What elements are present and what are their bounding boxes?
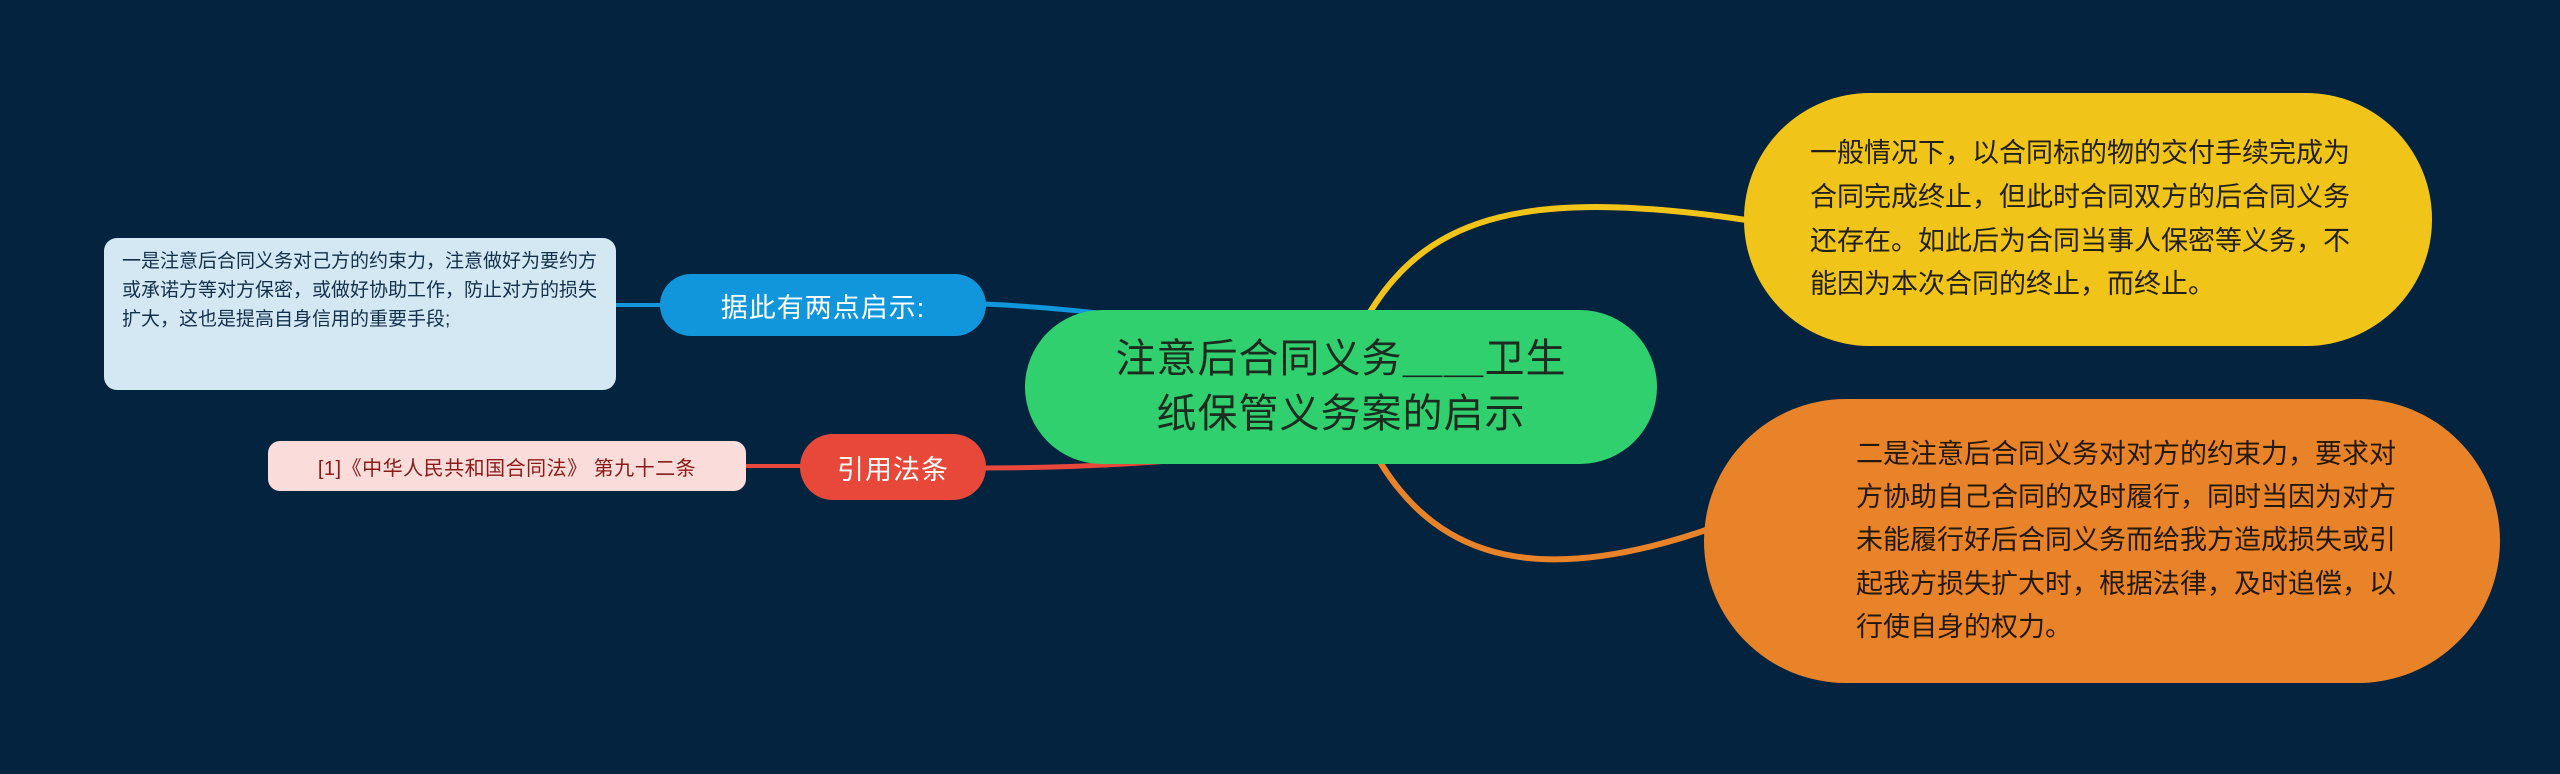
branch-node-second-point-text: 二是注意后合同义务对对方的约束力，要求对方协助自己合同的及时履行，同时当因为对方… <box>1856 433 2422 649</box>
branch-node-second-point[interactable]: 二是注意后合同义务对对方的约束力，要求对方协助自己合同的及时履行，同时当因为对方… <box>1704 399 2500 683</box>
leaf-note-first-point-text: 一是注意后合同义务对己方的约束力，注意做好为要约方或承诺方等对方保密，或做好协助… <box>122 248 598 335</box>
branch-node-cited-law[interactable]: 引用法条 <box>800 434 986 500</box>
branch-node-post-contract-duty-text: 一般情况下，以合同标的物的交付手续完成为合同完成终止，但此时合同双方的后合同义务… <box>1810 132 2372 307</box>
root-topic-node[interactable]: 注意后合同义务＿＿卫生 纸保管义务案的启示 <box>1025 310 1657 464</box>
leaf-citation-contract-law[interactable]: [1]《中华人民共和国合同法》 第九十二条 <box>268 441 746 491</box>
edge-root-to-orange <box>1380 462 1712 559</box>
mindmap-canvas: 注意后合同义务＿＿卫生 纸保管义务案的启示 据此有两点启示: 一是注意后合同义务… <box>0 0 2560 774</box>
branch-node-insights[interactable]: 据此有两点启示: <box>660 274 986 336</box>
branch-node-post-contract-duty[interactable]: 一般情况下，以合同标的物的交付手续完成为合同完成终止，但此时合同双方的后合同义务… <box>1744 93 2432 346</box>
edge-root-to-yellow <box>1370 207 1746 312</box>
leaf-note-first-point[interactable]: 一是注意后合同义务对己方的约束力，注意做好为要约方或承诺方等对方保密，或做好协助… <box>104 238 616 390</box>
